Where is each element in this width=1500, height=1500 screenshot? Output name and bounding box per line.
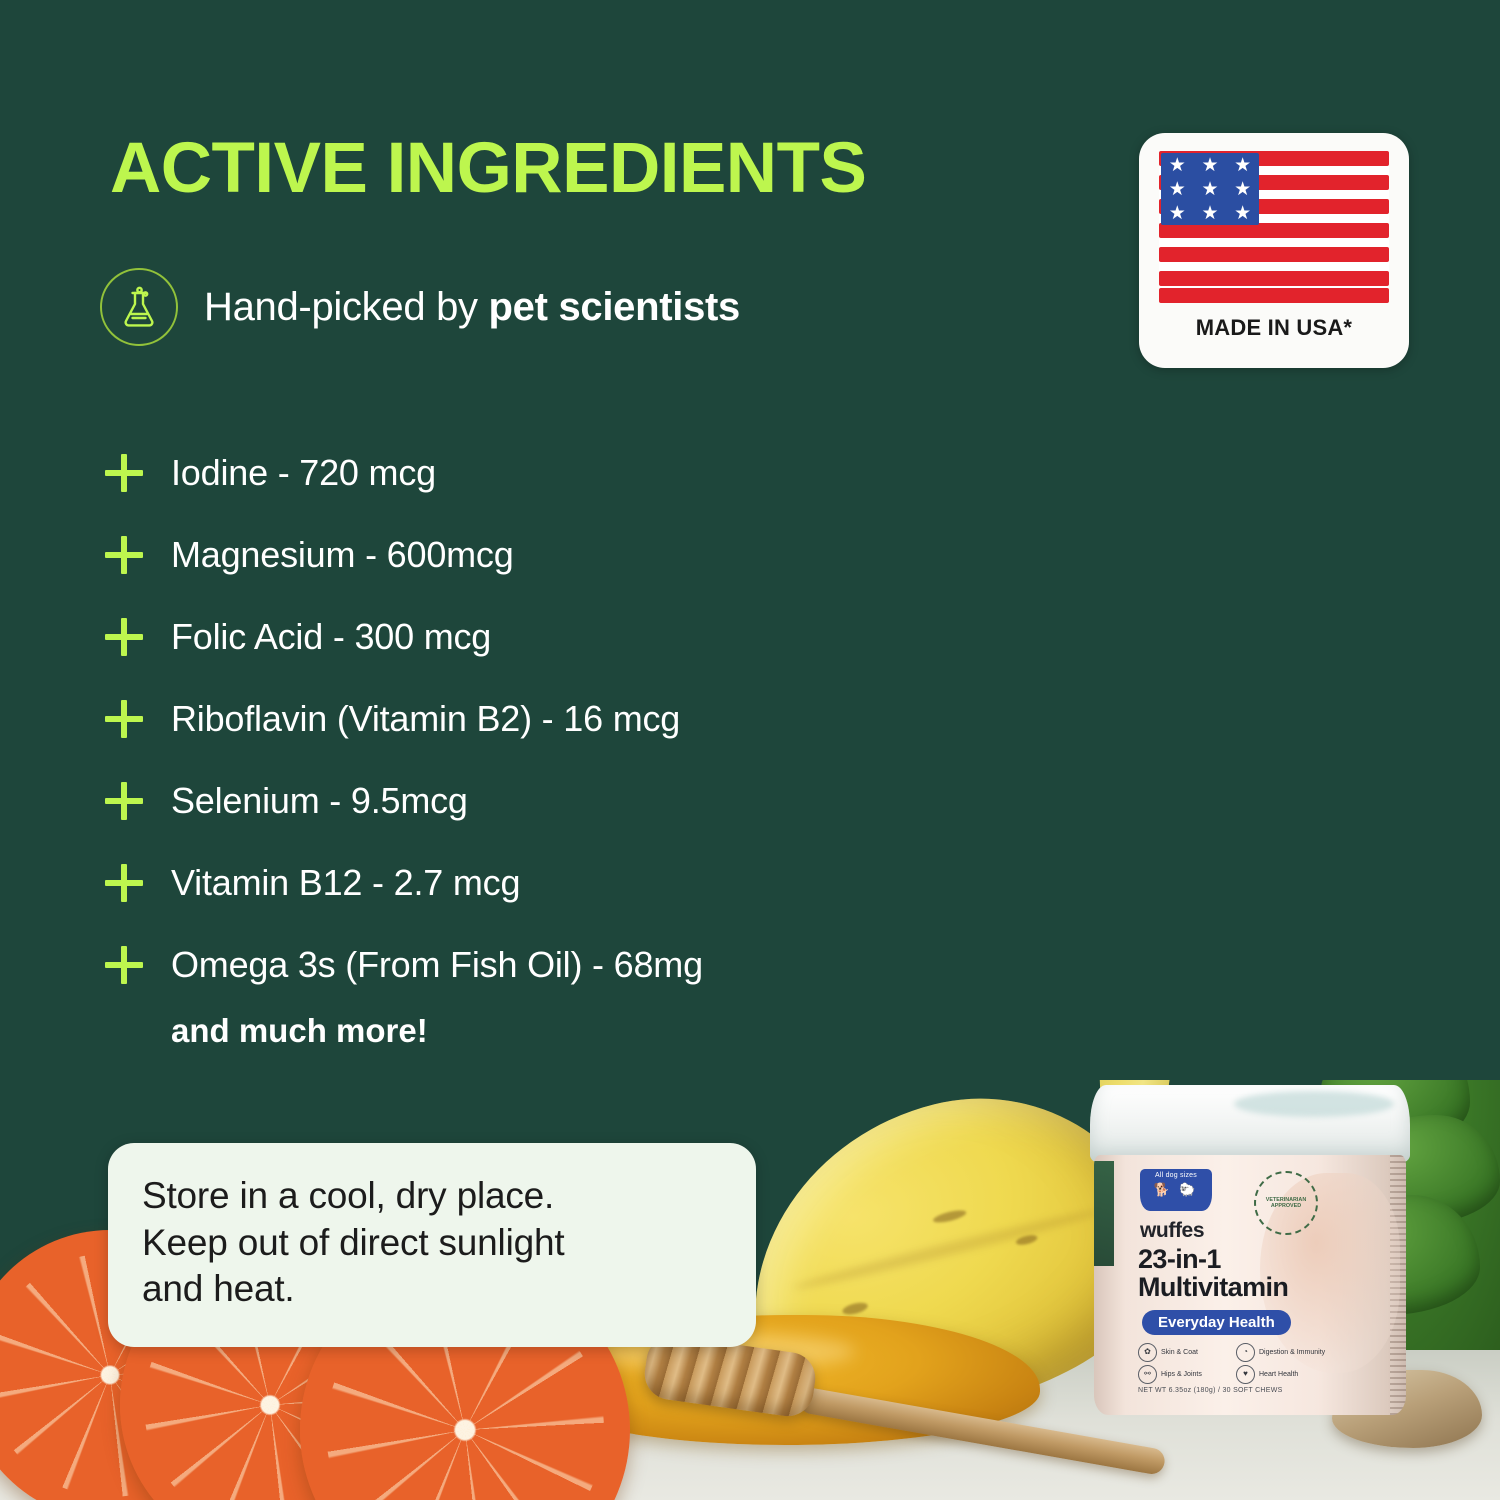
plus-icon [105, 454, 143, 492]
ingredient-row: Vitamin B12 - 2.7 mcg [105, 842, 1005, 924]
flag-star-icon: ★ [1201, 180, 1218, 199]
skin-coat-icon: ✿ [1138, 1343, 1157, 1362]
us-flag-icon: ★ ★ ★ ★ ★ ★ ★ ★ ★ [1159, 151, 1389, 303]
benefit-label: Digestion & Immunity [1259, 1349, 1325, 1357]
jar-lid [1090, 1085, 1410, 1163]
flag-star-icon: ★ [1201, 204, 1218, 223]
flag-star-icon: ★ [1169, 180, 1186, 199]
and-much-more-label: and much more! [171, 1012, 1005, 1050]
vet-seal-label: VETERINARIAN APPROVED [1256, 1197, 1316, 1209]
everyday-health-pill: Everyday Health [1142, 1310, 1291, 1335]
ingredient-label: Magnesium - 600mcg [171, 534, 514, 576]
ingredient-row: Magnesium - 600mcg [105, 514, 1005, 596]
ingredient-row: Folic Acid - 300 mcg [105, 596, 1005, 678]
flag-star-icon: ★ [1169, 156, 1186, 175]
ingredient-label: Folic Acid - 300 mcg [171, 616, 491, 658]
ingredient-label: Selenium - 9.5mcg [171, 780, 468, 822]
storage-instructions: Store in a cool, dry place. Keep out of … [142, 1173, 722, 1313]
veterinarian-approved-seal: VETERINARIAN APPROVED [1254, 1171, 1318, 1235]
made-in-usa-badge: ★ ★ ★ ★ ★ ★ ★ ★ ★ MADE IN USA* [1139, 133, 1409, 368]
ingredient-row: Selenium - 9.5mcg [105, 760, 1005, 842]
plus-icon [105, 864, 143, 902]
benefit-item: ⚯ Hips & Joints [1138, 1365, 1230, 1384]
jar-label: All dog sizes 🐕 🐑 VETERINARIAN APPROVED … [1094, 1155, 1406, 1415]
two-dogs-icon: 🐕 🐑 [1140, 1182, 1212, 1198]
flag-star-icon: ★ [1169, 204, 1186, 223]
net-weight-text: NET WT 6.35oz (180g) / 30 SOFT CHEWS [1138, 1387, 1283, 1394]
ingredient-label: Omega 3s (From Fish Oil) - 68mg [171, 944, 703, 986]
subtitle-row: Hand-picked by pet scientists [100, 268, 740, 346]
product-jar: All dog sizes 🐕 🐑 VETERINARIAN APPROVED … [1090, 1085, 1410, 1415]
page-title: ACTIVE INGREDIENTS [110, 133, 866, 204]
benefit-label: Heart Health [1259, 1371, 1298, 1379]
ingredient-row: Omega 3s (From Fish Oil) - 68mg [105, 924, 1005, 1006]
benefits-list: ✿ Skin & Coat ◔ Digestion & Immunity ⚯ H… [1138, 1343, 1338, 1384]
plus-icon [105, 618, 143, 656]
flag-star-icon: ★ [1201, 156, 1218, 175]
brand-name: wuffes [1140, 1219, 1204, 1243]
benefit-item: ♥ Heart Health [1236, 1365, 1328, 1384]
benefit-label: Hips & Joints [1161, 1371, 1202, 1379]
plus-icon [105, 536, 143, 574]
heart-health-icon: ♥ [1236, 1365, 1255, 1384]
plus-icon [105, 782, 143, 820]
ingredients-list: Iodine - 720 mcg Magnesium - 600mcg Foli… [105, 432, 1005, 1050]
product-infographic: All dog sizes 🐕 🐑 VETERINARIAN APPROVED … [0, 0, 1500, 1500]
jar-side-label [1094, 1161, 1114, 1266]
benefit-item: ✿ Skin & Coat [1138, 1343, 1230, 1362]
subtitle-emphasis: pet scientists [489, 285, 740, 329]
digestion-icon: ◔ [1236, 1343, 1255, 1362]
ingredient-row: Iodine - 720 mcg [105, 432, 1005, 514]
benefit-label: Skin & Coat [1161, 1349, 1198, 1357]
flag-star-icon: ★ [1234, 156, 1251, 175]
hips-joints-icon: ⚯ [1138, 1365, 1157, 1384]
size-badge-label: All dog sizes [1155, 1172, 1197, 1179]
flask-icon [100, 268, 178, 346]
subtitle-prefix: Hand-picked by [204, 285, 489, 329]
flag-star-icon: ★ [1234, 204, 1251, 223]
subtitle: Hand-picked by pet scientists [204, 285, 740, 330]
ingredient-label: Vitamin B12 - 2.7 mcg [171, 862, 520, 904]
ingredient-label: Iodine - 720 mcg [171, 452, 436, 494]
plus-icon [105, 946, 143, 984]
flag-star-icon: ★ [1234, 180, 1251, 199]
flag-canton: ★ ★ ★ ★ ★ ★ ★ ★ ★ [1161, 153, 1259, 225]
product-name: 23-in-1 Multivitamin [1138, 1245, 1288, 1301]
made-in-usa-label: MADE IN USA* [1159, 315, 1389, 341]
storage-callout: Store in a cool, dry place. Keep out of … [108, 1143, 756, 1347]
ingredient-label: Riboflavin (Vitamin B2) - 16 mcg [171, 698, 680, 740]
ingredient-row: Riboflavin (Vitamin B2) - 16 mcg [105, 678, 1005, 760]
all-dog-sizes-badge: All dog sizes 🐕 🐑 [1140, 1169, 1212, 1211]
benefit-item: ◔ Digestion & Immunity [1236, 1343, 1328, 1362]
plus-icon [105, 700, 143, 738]
